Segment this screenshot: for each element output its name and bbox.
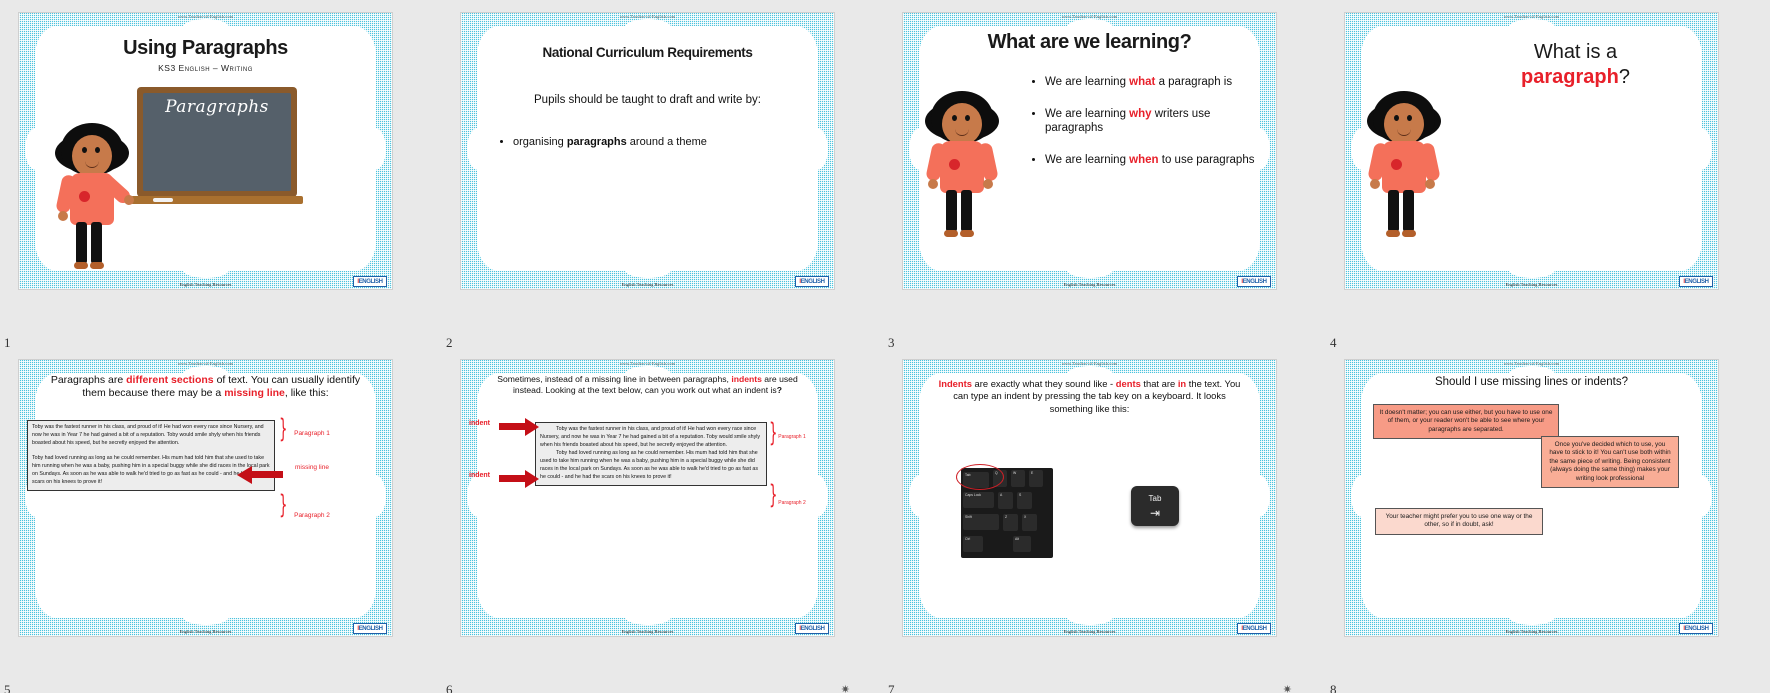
- learning-objectives-list: We are learning what a paragraph is We a…: [1031, 75, 1266, 185]
- animation-star-icon: ✷: [841, 683, 850, 693]
- brand-logo: IENGLISH: [353, 623, 387, 634]
- lead-text: Paragraphs are different sections of tex…: [37, 374, 374, 400]
- label-paragraph-1: Paragraph 1: [281, 430, 343, 438]
- lead-text: Indents are exactly what they sound like…: [921, 378, 1258, 415]
- page-title: What are we learning?: [921, 31, 1258, 54]
- list-item: organising paragraphs around a theme: [513, 136, 816, 148]
- slide-number: 6: [446, 682, 453, 693]
- slide-number: 3: [888, 335, 895, 351]
- slide-7-content: Indents are exactly what they sound like…: [903, 360, 1276, 636]
- indent-label-2: indent: [469, 472, 490, 479]
- brand-logo: IENGLISH: [1237, 276, 1271, 287]
- page-title: Should I use missing lines or indents?: [1363, 376, 1700, 388]
- label-paragraph-2: Paragraph 2: [281, 512, 343, 520]
- slide-8[interactable]: www.Teacher-of-English.com Should I use …: [1344, 359, 1719, 637]
- label-paragraph-2: Paragraph 2: [769, 500, 815, 506]
- page-title: Using Paragraphs: [37, 37, 374, 60]
- brand-logo: IENGLISH: [1237, 623, 1271, 634]
- slide-3-content: What are we learning? We are learning wh…: [903, 13, 1276, 289]
- page-title-highlight: paragraph?: [1451, 66, 1700, 89]
- list-item: We are learning when to use paragraphs: [1045, 153, 1266, 167]
- slide-cell-2[interactable]: www.Teacher-of-English.com National Curr…: [442, 6, 884, 353]
- slide-2[interactable]: www.Teacher-of-English.com National Curr…: [460, 12, 835, 290]
- page-title: National Curriculum Requirements: [479, 45, 816, 60]
- slide-1[interactable]: www.Teacher-of-English.com Using Paragra…: [18, 12, 393, 290]
- tab-key-graphic: Tab ⇥: [1131, 486, 1179, 526]
- slide-footer: English Teaching Resources: [1345, 282, 1718, 287]
- brand-logo: IENGLISH: [795, 276, 829, 287]
- passage-paragraph-1: Toby was the fastest runner in his class…: [540, 426, 762, 450]
- key-e: E: [1029, 470, 1043, 487]
- indent-label-1: indent: [469, 420, 490, 427]
- tab-arrow-icon: ⇥: [1150, 507, 1160, 519]
- label-paragraph-1: Paragraph 1: [769, 434, 815, 440]
- passage-paragraph-1: Toby was the fastest runner in his class…: [32, 424, 270, 448]
- slide-4-content: What is a paragraph?: [1345, 13, 1718, 289]
- key-s: S: [1017, 492, 1032, 509]
- brace-paragraph-1: }: [769, 418, 777, 448]
- slide-number: 8: [1330, 682, 1337, 693]
- slide-number: 7: [888, 682, 895, 693]
- callout-box-2: Your teacher might prefer you to use one…: [1375, 508, 1543, 535]
- slide-footer: English Teaching Resources: [461, 282, 834, 287]
- passage-paragraph-2: Toby had loved running as long as he cou…: [32, 455, 270, 487]
- highlight-ellipse: [956, 464, 1004, 490]
- slide-footer: English Teaching Resources: [19, 282, 392, 287]
- slide-cell-3[interactable]: www.Teacher-of-English.com What are we l…: [884, 6, 1326, 353]
- slide-3[interactable]: www.Teacher-of-English.com What are we l…: [902, 12, 1277, 290]
- body-text: Pupils should be taught to draft and wri…: [479, 94, 816, 106]
- lead-text: Sometimes, instead of a missing line in …: [479, 374, 816, 396]
- tab-key-label: Tab: [1149, 494, 1162, 503]
- key-alt: Alt: [1013, 536, 1031, 552]
- slide-cell-4[interactable]: www.Teacher-of-English.com What is a par…: [1326, 6, 1768, 353]
- passage-paragraph-2: Toby had loved running as long as he cou…: [540, 450, 762, 482]
- chalk-icon: [153, 198, 173, 202]
- callout-box-1: It doesn't matter; you can use either, b…: [1373, 404, 1559, 439]
- passage-text-box: Toby was the fastest runner in his class…: [535, 422, 767, 486]
- slide-number: 5: [4, 682, 11, 693]
- slide-2-content: National Curriculum Requirements Pupils …: [461, 13, 834, 289]
- key-z: Z: [1003, 514, 1018, 531]
- slide-footer: English Teaching Resources: [903, 629, 1276, 634]
- slide-footer: English Teaching Resources: [1345, 629, 1718, 634]
- bullet-list: organising paragraphs around a theme: [479, 136, 816, 148]
- slide-cell-6[interactable]: www.Teacher-of-English.com Sometimes, in…: [442, 353, 884, 693]
- slide-cell-8[interactable]: www.Teacher-of-English.com Should I use …: [1326, 353, 1768, 693]
- page-subtitle: KS3 English – Writing: [37, 63, 374, 73]
- callout-box-3: Once you've decided which to use, you ha…: [1541, 436, 1679, 488]
- animation-star-icon: ✷: [1283, 683, 1292, 693]
- brand-logo: IENGLISH: [353, 276, 387, 287]
- slide-4[interactable]: www.Teacher-of-English.com What is a par…: [1344, 12, 1719, 290]
- list-item: We are learning why writers use paragrap…: [1045, 107, 1266, 135]
- slide-deck: www.Teacher-of-English.com Using Paragra…: [0, 0, 1770, 693]
- slide-footer: English Teaching Resources: [19, 629, 392, 634]
- slide-cell-1[interactable]: www.Teacher-of-English.com Using Paragra…: [0, 6, 442, 353]
- slide-6[interactable]: www.Teacher-of-English.com Sometimes, in…: [460, 359, 835, 637]
- key-x: X: [1022, 514, 1037, 531]
- page-title: What is a: [1451, 41, 1700, 64]
- list-item: We are learning what a paragraph is: [1045, 75, 1266, 89]
- key-a: A: [998, 492, 1013, 509]
- label-missing-line: missing line: [281, 464, 343, 472]
- key-ctrl: Ctrl: [963, 536, 983, 552]
- slide-cell-5[interactable]: www.Teacher-of-English.com Paragraphs ar…: [0, 353, 442, 693]
- slide-cell-7[interactable]: www.Teacher-of-English.com Indents are e…: [884, 353, 1326, 693]
- slide-5[interactable]: www.Teacher-of-English.com Paragraphs ar…: [18, 359, 393, 637]
- slide-7[interactable]: www.Teacher-of-English.com Indents are e…: [902, 359, 1277, 637]
- slide-8-content: Should I use missing lines or indents? I…: [1345, 360, 1718, 636]
- slide-row-1: www.Teacher-of-English.com Using Paragra…: [0, 6, 1770, 353]
- blackboard-image: Paragraphs: [137, 87, 297, 197]
- slide-5-content: Paragraphs are different sections of tex…: [19, 360, 392, 636]
- slide-footer: English Teaching Resources: [903, 282, 1276, 287]
- brand-logo: IENGLISH: [795, 623, 829, 634]
- slide-number: 2: [446, 335, 453, 351]
- slide-6-content: Sometimes, instead of a missing line in …: [461, 360, 834, 636]
- slide-row-2: www.Teacher-of-English.com Paragraphs ar…: [0, 353, 1770, 693]
- slide-number: 1: [4, 335, 11, 351]
- slide-number: 4: [1330, 335, 1337, 351]
- brand-logo: IENGLISH: [1679, 276, 1713, 287]
- blackboard-text: Paragraphs: [165, 97, 269, 117]
- slide-footer: English Teaching Resources: [461, 629, 834, 634]
- brand-logo: IENGLISH: [1679, 623, 1713, 634]
- key-w: W: [1011, 470, 1025, 487]
- key-shift: Shift: [963, 514, 999, 530]
- slide-1-content: Using Paragraphs KS3 English – Writing P…: [19, 13, 392, 289]
- key-caps-lock: Caps Lock: [963, 492, 994, 508]
- brace-paragraph-1: }: [279, 414, 287, 444]
